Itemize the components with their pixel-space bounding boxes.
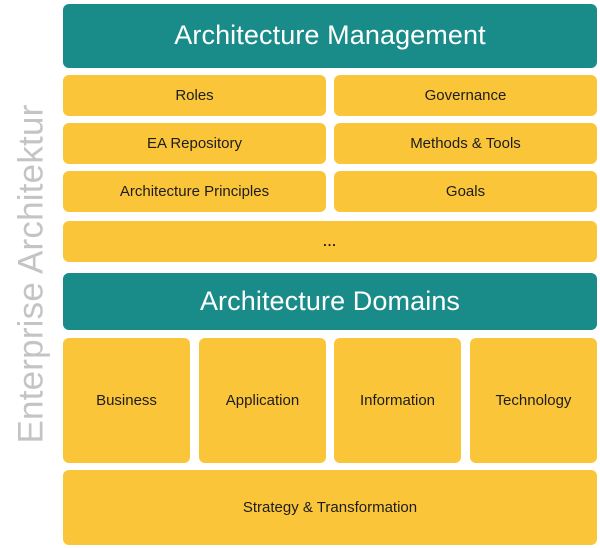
item-governance[interactable]: Governance <box>334 75 597 116</box>
domain-application[interactable]: Application <box>199 338 326 463</box>
item-methods-and-tools-label: Methods & Tools <box>410 135 521 153</box>
item-goals-label: Goals <box>446 183 485 201</box>
header-architecture-domains[interactable]: Architecture Domains <box>63 273 597 330</box>
side-label-enterprise-architektur: Enterprise Architektur <box>14 105 49 444</box>
item-ea-repository[interactable]: EA Repository <box>63 123 326 164</box>
item-architecture-principles[interactable]: Architecture Principles <box>63 171 326 212</box>
domain-information[interactable]: Information <box>334 338 461 463</box>
footer-strategy-and-transformation-label: Strategy & Transformation <box>243 499 417 517</box>
header-architecture-domains-label: Architecture Domains <box>200 286 460 317</box>
item-roles[interactable]: Roles <box>63 75 326 116</box>
domain-technology-label: Technology <box>496 392 572 410</box>
item-architecture-principles-label: Architecture Principles <box>120 183 269 201</box>
footer-strategy-and-transformation[interactable]: Strategy & Transformation <box>63 470 597 545</box>
domain-business-label: Business <box>96 392 157 410</box>
item-goals[interactable]: Goals <box>334 171 597 212</box>
item-more-ellipsis-label: ... <box>323 235 337 248</box>
side-label-container: Enterprise Architektur <box>0 0 62 548</box>
domain-information-label: Information <box>360 392 435 410</box>
item-governance-label: Governance <box>425 87 507 105</box>
domain-application-label: Application <box>226 392 299 410</box>
diagram-stack: Architecture Management Roles Governance… <box>63 0 597 548</box>
item-ea-repository-label: EA Repository <box>147 135 242 153</box>
header-architecture-management[interactable]: Architecture Management <box>63 4 597 68</box>
item-methods-and-tools[interactable]: Methods & Tools <box>334 123 597 164</box>
domain-technology[interactable]: Technology <box>470 338 597 463</box>
item-roles-label: Roles <box>175 87 213 105</box>
item-more-ellipsis[interactable]: ... <box>63 221 597 262</box>
enterprise-architecture-diagram: Enterprise Architektur Architecture Mana… <box>0 0 600 548</box>
domain-business[interactable]: Business <box>63 338 190 463</box>
header-architecture-management-label: Architecture Management <box>174 20 485 51</box>
